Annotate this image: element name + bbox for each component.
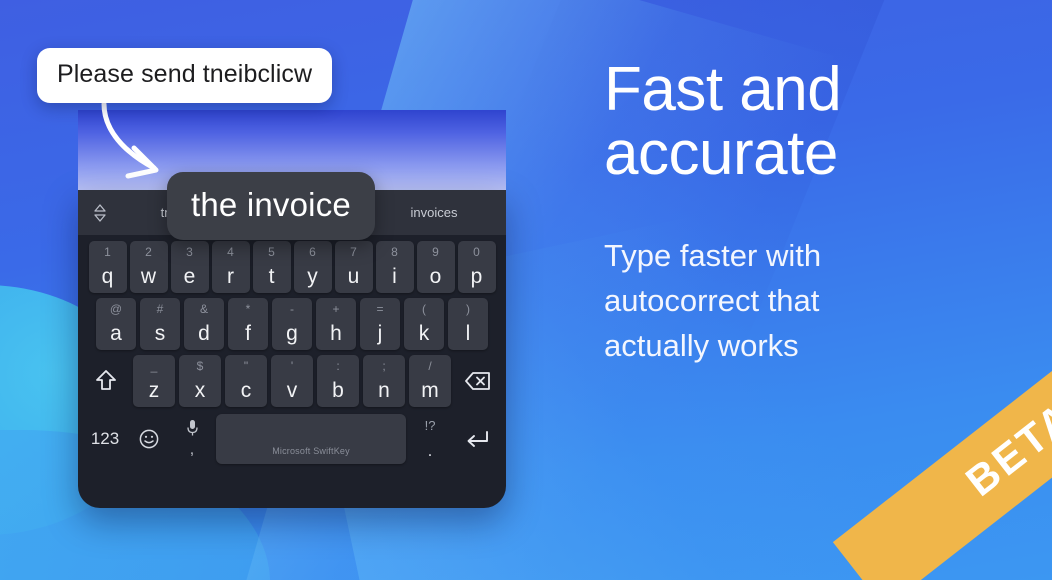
key-label: k bbox=[419, 323, 430, 344]
key-h[interactable]: +h bbox=[316, 298, 356, 350]
key-t[interactable]: 5t bbox=[253, 241, 291, 293]
suggestion-item-3[interactable]: invoices bbox=[370, 205, 498, 220]
key-label: t bbox=[269, 266, 275, 287]
key-label: w bbox=[141, 266, 156, 287]
key-label: j bbox=[378, 323, 383, 344]
key-d[interactable]: &d bbox=[184, 298, 224, 350]
shift-key[interactable] bbox=[83, 355, 129, 407]
key-q[interactable]: 1q bbox=[89, 241, 127, 293]
numbers-key[interactable]: 123 bbox=[84, 415, 126, 463]
punct-bottom-label: . bbox=[428, 448, 433, 455]
key-u[interactable]: 7u bbox=[335, 241, 373, 293]
key-alt-label: : bbox=[317, 360, 359, 372]
key-r[interactable]: 4r bbox=[212, 241, 250, 293]
key-alt-label: + bbox=[316, 303, 356, 315]
enter-return-icon bbox=[464, 428, 490, 450]
backspace-delete-icon bbox=[464, 370, 492, 392]
key-m[interactable]: /m bbox=[409, 355, 451, 407]
word-tooltip-text: the invoice bbox=[191, 186, 351, 224]
key-e[interactable]: 3e bbox=[171, 241, 209, 293]
key-label: s bbox=[155, 323, 166, 344]
key-alt-label: # bbox=[140, 303, 180, 315]
key-label: z bbox=[149, 380, 160, 401]
punctuation-key[interactable]: !? . bbox=[410, 415, 450, 463]
chevron-up-down-icon[interactable] bbox=[86, 203, 114, 223]
key-alt-label: & bbox=[184, 303, 224, 315]
shift-arrow-icon bbox=[94, 368, 118, 394]
key-alt-label: - bbox=[272, 303, 312, 315]
keyboard-row-3: _z $x "c 'v :b ;n /m bbox=[78, 350, 506, 407]
key-alt-label: 0 bbox=[458, 246, 496, 258]
key-label: l bbox=[466, 323, 471, 344]
key-alt-label: 7 bbox=[335, 246, 373, 258]
key-alt-label: _ bbox=[133, 360, 175, 372]
key-f[interactable]: *f bbox=[228, 298, 268, 350]
key-alt-label: ; bbox=[363, 360, 405, 372]
speech-bubble-text: Please send tneibclicw bbox=[57, 60, 312, 89]
key-label: b bbox=[332, 380, 344, 401]
microphone-icon bbox=[186, 419, 199, 437]
key-z[interactable]: _z bbox=[133, 355, 175, 407]
key-label: i bbox=[392, 266, 397, 287]
key-alt-label: 2 bbox=[130, 246, 168, 258]
key-alt-label: 5 bbox=[253, 246, 291, 258]
key-alt-label: 6 bbox=[294, 246, 332, 258]
key-label: r bbox=[227, 266, 234, 287]
key-c[interactable]: "c bbox=[225, 355, 267, 407]
key-alt-label: $ bbox=[179, 360, 221, 372]
key-s[interactable]: #s bbox=[140, 298, 180, 350]
key-label: o bbox=[430, 266, 442, 287]
key-alt-label: 9 bbox=[417, 246, 455, 258]
key-alt-label: 3 bbox=[171, 246, 209, 258]
key-alt-label: * bbox=[228, 303, 268, 315]
marketing-panel: Fast and accurate Type faster with autoc… bbox=[604, 58, 1004, 369]
key-alt-label: = bbox=[360, 303, 400, 315]
speech-bubble: Please send tneibclicw bbox=[37, 48, 332, 103]
key-label: u bbox=[348, 266, 360, 287]
space-brand-label: Microsoft SwiftKey bbox=[272, 446, 350, 456]
key-b[interactable]: :b bbox=[317, 355, 359, 407]
key-label: d bbox=[198, 323, 210, 344]
key-alt-label: / bbox=[409, 360, 451, 372]
key-v[interactable]: 'v bbox=[271, 355, 313, 407]
key-label: x bbox=[195, 380, 206, 401]
key-alt-label: ) bbox=[448, 303, 488, 315]
key-alt-label: ( bbox=[404, 303, 444, 315]
key-label: v bbox=[287, 380, 298, 401]
key-a[interactable]: @a bbox=[96, 298, 136, 350]
emoji-key[interactable] bbox=[130, 415, 168, 463]
key-label: f bbox=[245, 323, 251, 344]
key-alt-label: 4 bbox=[212, 246, 250, 258]
key-label: m bbox=[421, 380, 439, 401]
key-label: h bbox=[330, 323, 342, 344]
keyboard-row-4: 123 , Microsoft SwiftKey !? . bbox=[78, 407, 506, 464]
comma-label: , bbox=[190, 442, 194, 457]
key-k[interactable]: (k bbox=[404, 298, 444, 350]
key-y[interactable]: 6y bbox=[294, 241, 332, 293]
key-n[interactable]: ;n bbox=[363, 355, 405, 407]
key-j[interactable]: =j bbox=[360, 298, 400, 350]
key-label: c bbox=[241, 380, 252, 401]
key-alt-label: @ bbox=[96, 303, 136, 315]
key-label: e bbox=[184, 266, 196, 287]
key-alt-label: ' bbox=[271, 360, 313, 372]
key-label: y bbox=[307, 266, 318, 287]
key-alt-label: 8 bbox=[376, 246, 414, 258]
key-w[interactable]: 2w bbox=[130, 241, 168, 293]
emoji-smiley-icon bbox=[138, 428, 160, 450]
key-label: a bbox=[110, 323, 122, 344]
key-label: p bbox=[471, 266, 483, 287]
key-alt-label: 1 bbox=[89, 246, 127, 258]
enter-key[interactable] bbox=[454, 415, 500, 463]
mic-comma-key[interactable]: , bbox=[172, 415, 212, 463]
key-p[interactable]: 0p bbox=[458, 241, 496, 293]
key-i[interactable]: 8i bbox=[376, 241, 414, 293]
key-label: g bbox=[286, 323, 298, 344]
key-g[interactable]: -g bbox=[272, 298, 312, 350]
word-prediction-tooltip[interactable]: the invoice bbox=[167, 172, 375, 240]
punct-top-label: !? bbox=[425, 419, 436, 432]
key-l[interactable]: )l bbox=[448, 298, 488, 350]
subheadline-text: Type faster with autocorrect that actual… bbox=[604, 234, 1004, 369]
backspace-key[interactable] bbox=[455, 355, 501, 407]
key-label: n bbox=[378, 380, 390, 401]
key-alt-label: " bbox=[225, 360, 267, 372]
keyboard-row-1: 1q 2w 3e 4r 5t 6y 7u 8i 9o 0p bbox=[78, 235, 506, 293]
key-label: q bbox=[102, 266, 114, 287]
headline-text: Fast and accurate bbox=[604, 58, 1004, 186]
keyboard-row-2: @a #s &d *f -g +h =j (k )l bbox=[78, 293, 506, 350]
key-x[interactable]: $x bbox=[179, 355, 221, 407]
key-o[interactable]: 9o bbox=[417, 241, 455, 293]
space-key[interactable]: Microsoft SwiftKey bbox=[216, 414, 406, 464]
